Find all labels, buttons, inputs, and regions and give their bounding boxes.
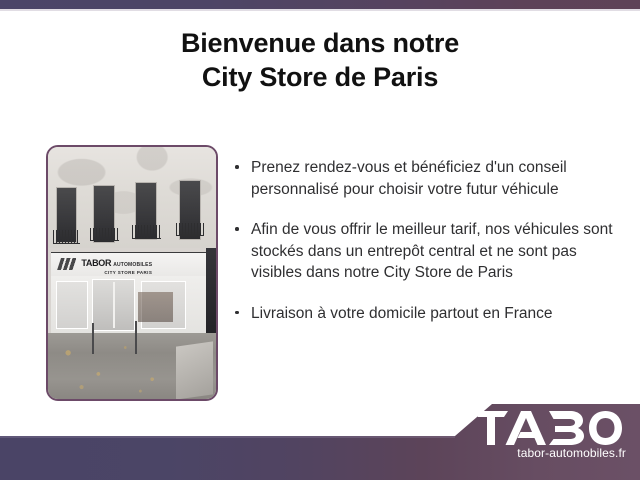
curb-stone — [176, 341, 213, 399]
brand-logo[interactable]: tabor-automobiles.fr — [474, 411, 626, 460]
shop-sign-logo-mark — [57, 258, 78, 270]
balcony-railing — [90, 228, 119, 242]
bullet-list: Prenez rendez-vous et bénéficiez d'un co… — [233, 157, 631, 324]
shop-sign-text: TABORAUTOMOBILES CITY STORE PARIS — [81, 254, 152, 276]
list-item: Afin de vous offrir le meilleur tarif, n… — [233, 219, 631, 284]
shop-sign: TABORAUTOMOBILES CITY STORE PARIS — [51, 252, 209, 278]
top-accent-bar-shade — [0, 9, 640, 11]
shop-interior — [138, 292, 173, 322]
balcony-railing — [176, 223, 205, 237]
brand-website: tabor-automobiles.fr — [474, 446, 626, 460]
shop-door — [92, 279, 135, 331]
bullet-dot-icon — [235, 227, 239, 231]
balcony-railing — [132, 225, 161, 239]
tabor-wordmark-icon — [474, 411, 626, 445]
shop-front — [51, 276, 209, 335]
storefront-photo: TABORAUTOMOBILES CITY STORE PARIS — [46, 145, 218, 401]
footer-bar-highlight — [0, 436, 455, 438]
shop-window-pane — [56, 281, 88, 329]
slide: Bienvenue dans notre City Store de Paris… — [0, 0, 640, 480]
list-item: Prenez rendez-vous et bénéficiez d'un co… — [233, 157, 631, 200]
list-item: Livraison à votre domicile partout en Fr… — [233, 303, 631, 325]
shop-sign-brand: TABOR — [81, 259, 111, 268]
list-item-text: Afin de vous offrir le meilleur tarif, n… — [251, 219, 631, 284]
street-bollard — [135, 321, 137, 354]
street-bollard — [92, 323, 94, 353]
list-item-text: Prenez rendez-vous et bénéficiez d'un co… — [251, 157, 631, 200]
adjacent-dark-facade — [206, 248, 216, 334]
storefront-photo-image: TABORAUTOMOBILES CITY STORE PARIS — [48, 147, 216, 399]
page-title-line-1: Bienvenue dans notre — [0, 26, 640, 60]
balcony-railing — [53, 230, 80, 244]
page-title-line-2: City Store de Paris — [0, 60, 640, 94]
bullet-dot-icon — [235, 165, 239, 169]
list-item-text: Livraison à votre domicile partout en Fr… — [251, 303, 631, 325]
top-accent-bar — [0, 0, 640, 9]
footer-bar: tabor-automobiles.fr — [0, 404, 640, 480]
shop-sign-subtitle: AUTOMOBILES — [113, 263, 152, 268]
page-title: Bienvenue dans notre City Store de Paris — [0, 26, 640, 94]
bullet-dot-icon — [235, 311, 239, 315]
